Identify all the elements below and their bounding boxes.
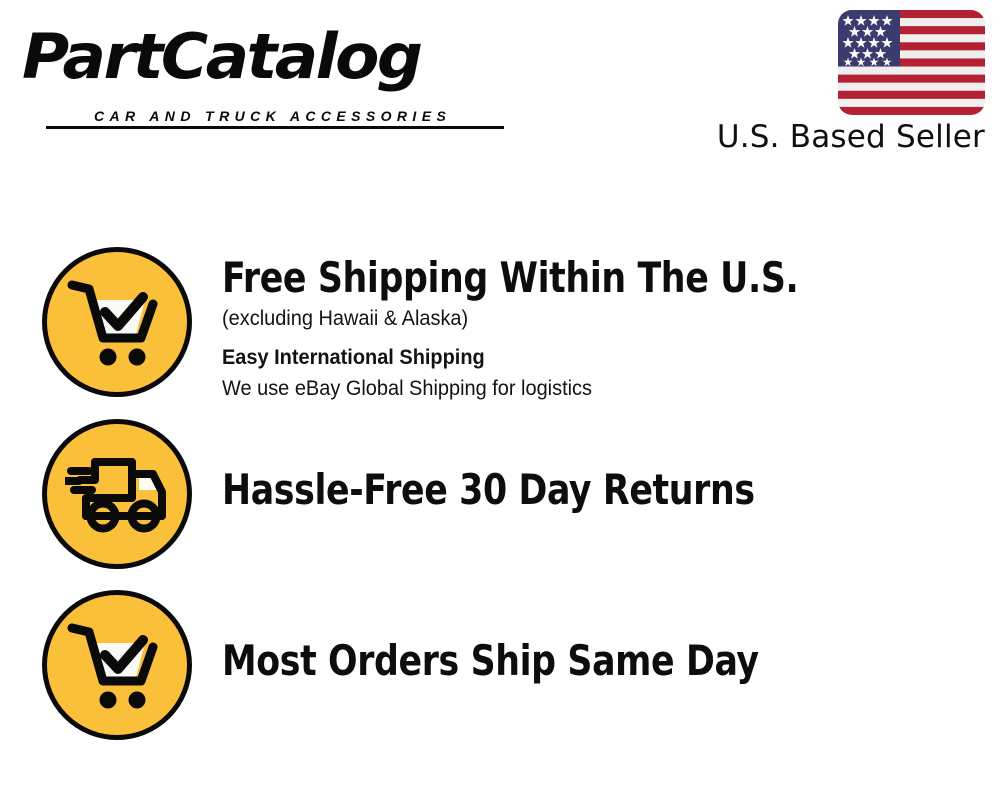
us-flag-icon <box>838 10 985 115</box>
feature-headline: Hassle-Free 30 Day Returns <box>222 465 921 515</box>
feature-subdetail: We use eBay Global Shipping for logistic… <box>222 374 944 404</box>
feature-headline: Most Orders Ship Same Day <box>222 636 921 686</box>
feature-text-same-day: Most Orders Ship Same Day <box>222 636 982 686</box>
feature-text-returns: Hassle-Free 30 Day Returns <box>222 465 982 515</box>
feature-row-same-day-shipping: Most Orders Ship Same Day <box>0 590 1000 742</box>
feature-row-free-shipping: Free Shipping Within The U.S. (excluding… <box>0 247 1000 399</box>
feature-subheading: Easy International Shipping <box>222 343 944 373</box>
brand-logo[interactable]: PartCatalog CAR AND TRUCK ACCESSORIES <box>22 22 492 112</box>
delivery-truck-icon <box>42 419 192 569</box>
feature-headline: Free Shipping Within The U.S. <box>222 253 921 303</box>
feature-text-free-shipping: Free Shipping Within The U.S. (excluding… <box>222 253 982 404</box>
feature-row-returns: Hassle-Free 30 Day Returns <box>0 419 1000 571</box>
brand-logo-underline <box>46 126 504 129</box>
brand-wordmark: PartCatalog <box>22 22 420 92</box>
brand-tagline: CAR AND TRUCK ACCESSORIES <box>94 108 451 124</box>
feature-subnote: (excluding Hawaii & Alaska) <box>222 304 944 334</box>
us-based-seller-label: U.S. Based Seller <box>500 118 985 156</box>
shopping-cart-check-icon <box>42 247 192 397</box>
shopping-cart-check-icon <box>42 590 192 740</box>
